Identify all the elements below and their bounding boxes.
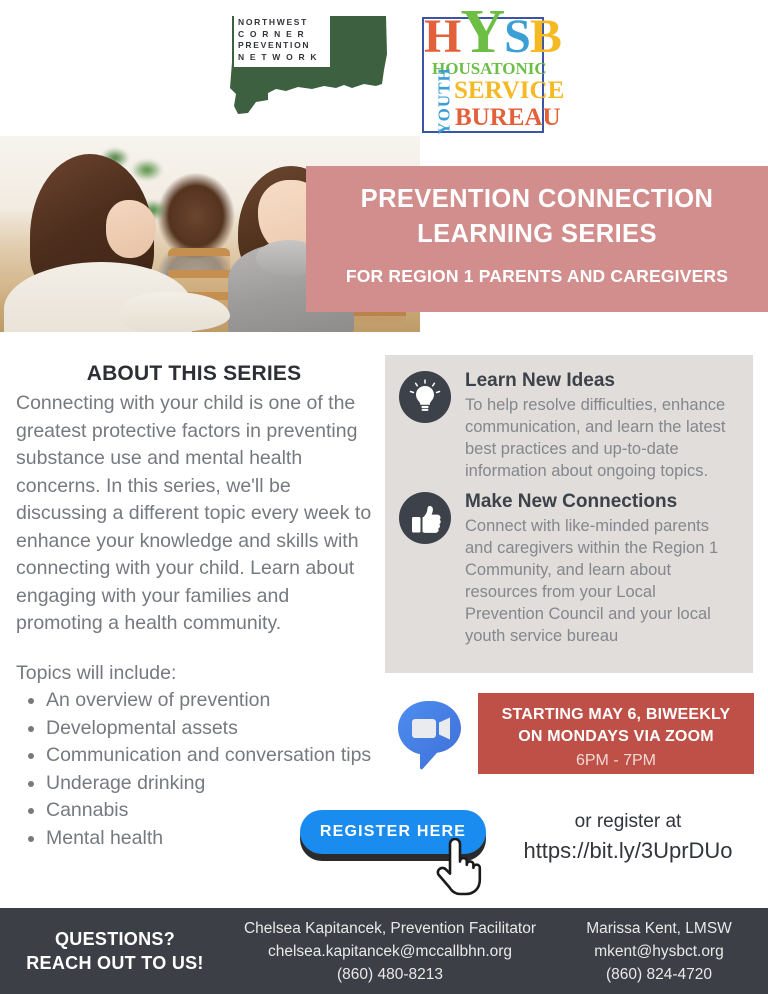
lightbulb-icon xyxy=(399,371,451,423)
hysb-letter-b: B xyxy=(530,10,561,63)
schedule-strip: STARTING MAY 6, BIWEEKLY ON MONDAYS VIA … xyxy=(386,693,754,777)
nwcpn-line-1: NORTHWEST xyxy=(238,17,326,29)
photo-parent-arm xyxy=(118,292,230,332)
poster-subtitle: FOR REGION 1 PARENTS AND CAREGIVERS xyxy=(306,266,768,287)
housatonic-youth-service-bureau-logo: HYSB HOUSATONIC YOUTH SERVICE BUREAU xyxy=(422,17,544,133)
poster-title-line-2: LEARNING SERIES xyxy=(306,217,768,252)
hysb-letter-s: S xyxy=(504,10,530,63)
list-item: Communication and conversation tips xyxy=(46,742,372,770)
benefit-title: Make New Connections xyxy=(465,490,737,514)
hysb-letter-h: H xyxy=(424,10,460,63)
about-body-text: Connecting with your child is one of the… xyxy=(16,390,372,638)
logo-header: NORTHWEST C O R N E R PREVENTION N E T W… xyxy=(0,0,768,140)
poster-title-line-1: PREVENTION CONNECTION xyxy=(306,182,768,217)
hero-section: PREVENTION CONNECTION LEARNING SERIES FO… xyxy=(0,136,768,332)
hysb-word-service: SERVICE xyxy=(454,77,564,105)
schedule-time: 6PM - 7PM xyxy=(478,752,754,770)
benefit-item-learn-new-ideas: Learn New Ideas To help resolve difficul… xyxy=(399,369,737,482)
contact-chelsea-kapitancek: Chelsea Kapitancek, Prevention Facilitat… xyxy=(230,917,550,986)
questions-line-1: QUESTIONS? xyxy=(0,927,230,951)
topics-label: Topics will include: xyxy=(16,660,372,688)
zoom-video-chat-icon xyxy=(390,695,470,775)
contact-phone[interactable]: (860) 480-8213 xyxy=(230,963,550,986)
benefit-title: Learn New Ideas xyxy=(465,369,737,393)
pointing-hand-cursor-icon xyxy=(434,838,486,898)
schedule-line-1: STARTING MAY 6, BIWEEKLY xyxy=(478,704,754,726)
hysb-letter-y: Y xyxy=(460,0,504,66)
contact-footer: QUESTIONS? REACH OUT TO US! Chelsea Kapi… xyxy=(0,908,768,994)
nwcpn-line-4: N E T W O R K xyxy=(238,52,326,64)
questions-line-2: REACH OUT TO US! xyxy=(0,951,230,975)
benefit-description: To help resolve difficulties, enhance co… xyxy=(465,394,737,482)
nwcpn-line-2: C O R N E R xyxy=(238,29,326,41)
hysb-word-bureau: BUREAU xyxy=(455,104,561,132)
list-item: An overview of prevention xyxy=(46,687,372,715)
benefits-panel: Learn New Ideas To help resolve difficul… xyxy=(385,355,753,673)
hysb-initials: HYSB xyxy=(424,7,546,62)
list-item: Developmental assets xyxy=(46,715,372,743)
contact-name: Chelsea Kapitancek, Prevention Facilitat… xyxy=(230,917,550,940)
contact-phone[interactable]: (860) 824-4720 xyxy=(550,963,768,986)
alternate-registration-block: or register at https://bit.ly/3UprDUo xyxy=(500,808,756,866)
nwcpn-wordmark: NORTHWEST C O R N E R PREVENTION N E T W… xyxy=(234,14,330,67)
register-area: REGISTER HERE or register at https://bit… xyxy=(296,802,756,892)
schedule-banner: STARTING MAY 6, BIWEEKLY ON MONDAYS VIA … xyxy=(478,693,754,774)
benefit-item-make-new-connections: Make New Connections Connect with like-m… xyxy=(399,490,737,647)
thumbs-up-icon xyxy=(399,492,451,544)
benefit-description: Connect with like-minded parents and car… xyxy=(465,515,737,647)
schedule-line-2: ON MONDAYS VIA ZOOM xyxy=(478,726,754,748)
about-heading: ABOUT THIS SERIES xyxy=(16,362,372,386)
register-alt-label: or register at xyxy=(500,808,756,836)
hysb-word-youth: YOUTH xyxy=(435,67,455,134)
title-banner: PREVENTION CONNECTION LEARNING SERIES FO… xyxy=(306,166,768,312)
benefit-text-block: Make New Connections Connect with like-m… xyxy=(465,490,737,647)
photo-parent-face xyxy=(106,200,156,258)
questions-callout: QUESTIONS? REACH OUT TO US! xyxy=(0,927,230,975)
benefit-text-block: Learn New Ideas To help resolve difficul… xyxy=(465,369,737,482)
contact-email[interactable]: chelsea.kapitancek@mccallbhn.org xyxy=(230,940,550,963)
contact-marissa-kent: Marissa Kent, LMSW mkent@hysbct.org (860… xyxy=(550,917,768,986)
nwcpn-line-3: PREVENTION xyxy=(238,40,326,52)
contact-name: Marissa Kent, LMSW xyxy=(550,917,768,940)
northwest-corner-prevention-network-logo: NORTHWEST C O R N E R PREVENTION N E T W… xyxy=(224,14,394,130)
register-url[interactable]: https://bit.ly/3UprDUo xyxy=(500,836,756,866)
list-item: Underage drinking xyxy=(46,770,372,798)
about-column: ABOUT THIS SERIES Connecting with your c… xyxy=(16,362,372,852)
contact-email[interactable]: mkent@hysbct.org xyxy=(550,940,768,963)
